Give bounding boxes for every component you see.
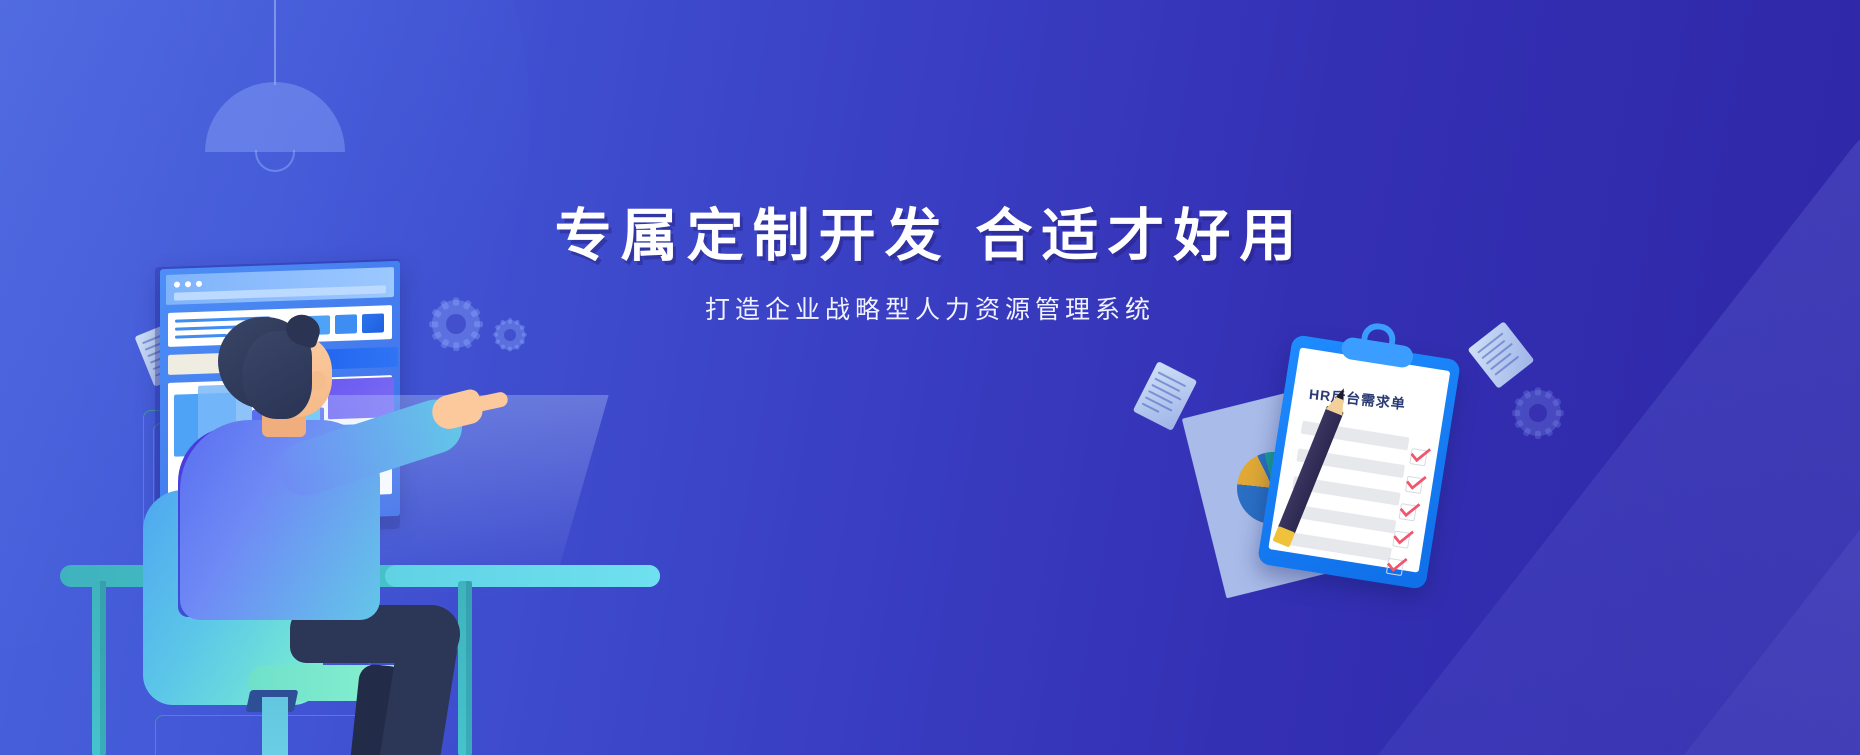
hero-banner: 专属定制开发 合适才好用 打造企业战略型人力资源管理系统 <box>0 0 1860 755</box>
desk-leg-left-shade <box>100 581 106 755</box>
browser-title-bar <box>166 267 394 305</box>
person-at-desk-illustration <box>0 235 700 755</box>
hr-requirement-clipboard-illustration: HR后台需求单 <box>1190 320 1530 650</box>
clipboard-sheet: HR后台需求单 <box>1268 347 1450 572</box>
clipboard-title: HR后台需求单 <box>1308 384 1407 414</box>
browser-url-bar <box>174 285 386 300</box>
office-chair-stem <box>262 697 288 755</box>
desk-surface-highlight <box>385 565 660 587</box>
window-dots <box>174 281 202 288</box>
desk-leg-right-shade <box>466 581 472 755</box>
